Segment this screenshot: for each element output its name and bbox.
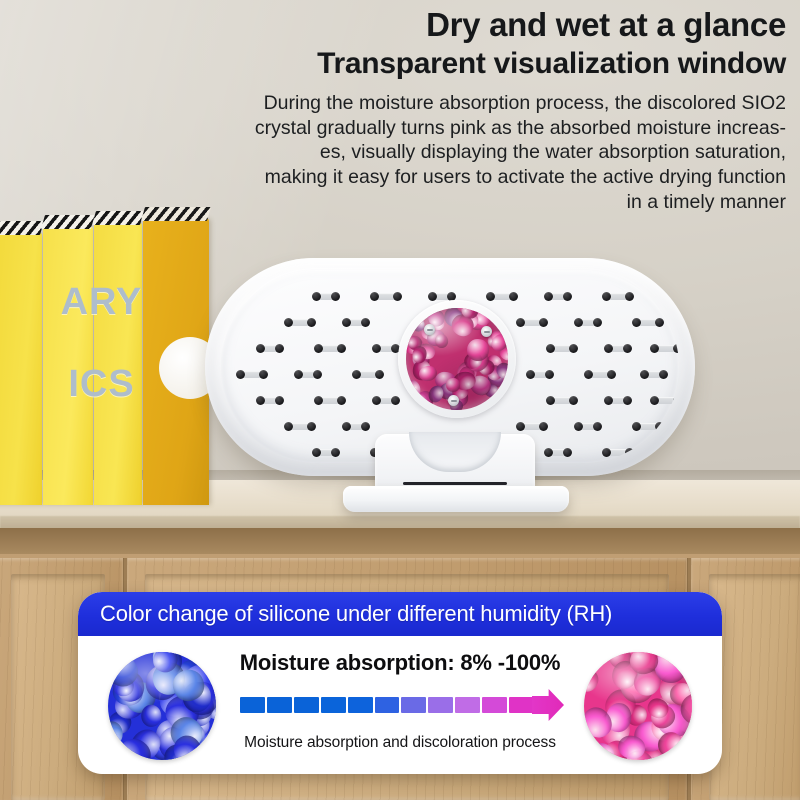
product-marketing-image: ARY ICS	[0, 0, 800, 800]
vent-hole-pair	[575, 423, 601, 430]
panel-body: Moisture absorption: 8% -100% Moisture a…	[78, 636, 722, 774]
gradient-segment-9	[455, 697, 480, 713]
vent-hole-pair	[295, 371, 321, 378]
vent-hole-pair	[353, 371, 383, 378]
vent-hole-pair	[605, 345, 631, 352]
book-top-stripes	[41, 215, 95, 229]
crystal-window-glass	[406, 308, 508, 410]
panel-header-title: Color change of silicone under different…	[78, 601, 612, 627]
description-line-5: in a timely manner	[146, 190, 786, 215]
vent-hole-pair	[545, 293, 571, 300]
description-line-2: crystal gradually turns pink as the abso…	[146, 116, 786, 141]
dry-beads-photo	[108, 652, 216, 760]
vent-hole-pair	[487, 293, 517, 300]
book-top-stripes	[92, 211, 144, 225]
vent-hole-pair	[285, 423, 315, 430]
window-screw-bottom	[448, 395, 459, 406]
gradient-segments	[240, 697, 534, 713]
vent-hole-pair	[547, 397, 577, 404]
vent-hole-pair	[603, 449, 633, 456]
vent-hole-pair	[237, 371, 267, 378]
vent-hole-pair	[605, 397, 631, 404]
gradient-segment-5	[348, 697, 373, 713]
gradient-segment-3	[294, 697, 319, 713]
vent-hole-pair	[651, 397, 679, 404]
vent-hole-pair	[315, 345, 345, 352]
dehumidifier-product	[205, 258, 705, 508]
vent-hole-pair	[517, 423, 547, 430]
headline-line-1: Dry and wet at a glance	[146, 6, 786, 44]
vent-hole-pair	[585, 371, 615, 378]
vent-hole-pair	[547, 345, 577, 352]
stand-seam	[403, 482, 507, 485]
gradient-segment-1	[240, 697, 265, 713]
vent-hole-pair	[641, 371, 667, 378]
vent-hole-pair	[257, 397, 283, 404]
vent-hole-pair	[373, 345, 399, 352]
saturated-beads-photo	[584, 652, 692, 760]
device-stand-base	[343, 486, 569, 512]
gradient-scale-block: Moisture absorption: 8% -100% Moisture a…	[236, 644, 564, 774]
photo-gloss	[108, 652, 216, 760]
crystal-window-bezel	[398, 300, 516, 418]
vent-hole-pair	[603, 293, 633, 300]
book-4	[143, 219, 209, 505]
vent-hole-pair	[315, 397, 345, 404]
process-caption: Moisture absorption and discoloration pr…	[236, 734, 564, 752]
gradient-segment-7	[401, 697, 426, 713]
photo-gloss	[584, 652, 692, 760]
vent-hole-pair	[257, 345, 283, 352]
description-line-3: es, visually displaying the water absorp…	[146, 140, 786, 165]
vent-hole-pair	[633, 423, 663, 430]
vent-hole-pair	[651, 345, 679, 352]
description-line-1: During the moisture absorption process, …	[146, 91, 786, 116]
book-top-stripes	[0, 221, 44, 235]
gradient-segment-8	[428, 697, 453, 713]
gradient-arrow	[236, 692, 564, 718]
glass-reflection	[406, 308, 508, 410]
gradient-segment-6	[375, 697, 400, 713]
panel-header-bar: Color change of silicone under different…	[78, 592, 722, 636]
vent-hole-pair	[343, 319, 369, 326]
vent-hole-pair	[373, 397, 399, 404]
vent-hole-pair	[575, 319, 601, 326]
description-line-4: making it easy for users to activate the…	[146, 165, 786, 190]
gradient-segment-10	[482, 697, 507, 713]
cabinet-top-rail	[0, 528, 800, 554]
vent-hole-pair	[313, 449, 339, 456]
vent-hole-pair	[517, 319, 547, 326]
vent-hole-pair	[545, 449, 571, 456]
gradient-segment-2	[267, 697, 292, 713]
vent-hole-pair	[527, 371, 553, 378]
stand-notch	[409, 432, 501, 472]
window-screw-top-left	[424, 324, 435, 335]
window-screw-top-right	[481, 326, 492, 337]
gradient-segment-11	[509, 697, 534, 713]
headline-line-2: Transparent visualization window	[146, 46, 786, 82]
vent-hole-pair	[633, 319, 663, 326]
book-title-line-1: ARY	[0, 281, 209, 324]
gradient-segment-4	[321, 697, 346, 713]
vent-hole-pair	[429, 293, 455, 300]
book-title-line-2: ICS	[0, 363, 209, 406]
vent-hole-pair	[343, 423, 369, 430]
arrow-head-icon	[532, 689, 564, 721]
description-paragraph: During the moisture absorption process, …	[146, 91, 786, 214]
vent-hole-pair	[313, 293, 339, 300]
book-stack: ARY ICS	[0, 215, 209, 505]
humidity-callout-panel: Color change of silicone under different…	[78, 592, 722, 774]
marketing-copy: Dry and wet at a glance Transparent visu…	[146, 6, 786, 214]
vent-hole-pair	[285, 319, 315, 326]
absorption-range-label: Moisture absorption: 8% -100%	[236, 650, 564, 676]
vent-hole-pair	[371, 293, 401, 300]
